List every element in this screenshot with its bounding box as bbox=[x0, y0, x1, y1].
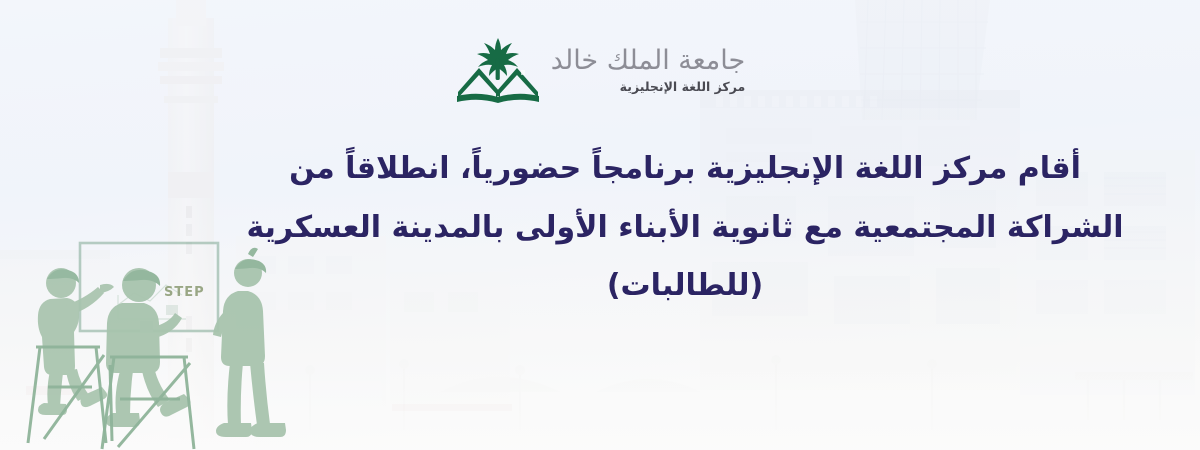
headline-text: أقام مركز اللغة الإنجليزية برنامجاً حضور… bbox=[240, 140, 1130, 316]
event-announcement-banner: STEP جامعة الملك خالد مركز اللغة الإنجلي… bbox=[0, 0, 1200, 450]
english-language-center-name: مركز اللغة الإنجليزية bbox=[620, 80, 746, 93]
logo-text-block: جامعة الملك خالد مركز اللغة الإنجليزية bbox=[551, 47, 745, 93]
king-khalid-university-emblem-icon bbox=[455, 34, 541, 106]
university-name: جامعة الملك خالد bbox=[551, 47, 745, 75]
step-board-label: STEP bbox=[164, 285, 205, 300]
university-logo-lockup: جامعة الملك خالد مركز اللغة الإنجليزية bbox=[0, 34, 1200, 106]
